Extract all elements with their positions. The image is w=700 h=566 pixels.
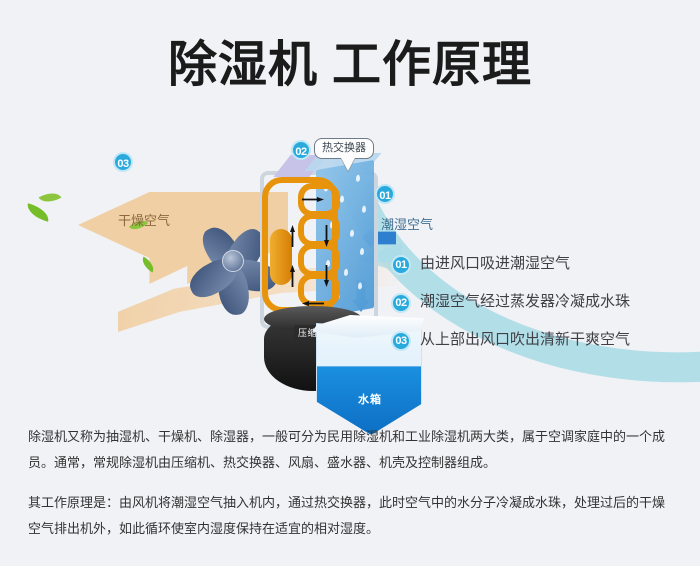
legend-badge-01: 01 (391, 255, 411, 275)
machine-assembly: 压缩机 水箱 (250, 165, 390, 375)
leaf-icon (25, 203, 51, 221)
legend-item: 01 由进风口吸进潮湿空气 (391, 253, 691, 291)
legend-item: 02 潮湿空气经过蒸发器冷凝成水珠 (391, 291, 691, 329)
paragraph-2: 其工作原理是：由风机将潮湿空气抽入机内，通过热交换器，此时空气中的水分子冷凝成水… (28, 490, 676, 542)
diagram-label-dry-air: 干燥空气 (118, 210, 170, 229)
legend-badge-02: 02 (391, 293, 411, 313)
page-root: 除湿机工作原理 (0, 0, 700, 566)
leaf-icon (39, 188, 62, 207)
page-title-part1: 除湿机 (168, 38, 318, 92)
legend-text-01: 由进风口吸进潮湿空气 (420, 253, 570, 275)
legend-item: 03 从上部出风口吹出清新干爽空气 (391, 329, 691, 367)
diagram-badge-02: 02 (291, 140, 311, 160)
diagram-badge-01: 01 (375, 184, 395, 204)
legend-text-03: 从上部出风口吹出清新干爽空气 (420, 329, 630, 351)
legend-text-02: 潮湿空气经过蒸发器冷凝成水珠 (420, 291, 630, 313)
legend-list: 01 由进风口吸进潮湿空气 02 潮湿空气经过蒸发器冷凝成水珠 03 从上部出风… (391, 253, 691, 367)
diagram-label-heat-exchanger: 热交换器 (314, 138, 374, 159)
water-tank-label: 水箱 (358, 391, 382, 407)
fan-hub (222, 250, 244, 272)
diagram-badge-03: 03 (113, 152, 133, 172)
legend-badge-03: 03 (391, 331, 411, 351)
page-title: 除湿机工作原理 (0, 36, 700, 94)
page-title-part2: 工作原理 (332, 38, 532, 92)
paragraph-1: 除湿机又称为抽湿机、干燥机、除湿器，一般可分为民用除湿机和工业除湿机两大类，属于… (28, 424, 676, 476)
body-copy: 除湿机又称为抽湿机、干燥机、除湿器，一般可分为民用除湿机和工业除湿机两大类，属于… (28, 424, 676, 556)
diagram-label-humid-air: 潮湿空气 (381, 214, 433, 233)
